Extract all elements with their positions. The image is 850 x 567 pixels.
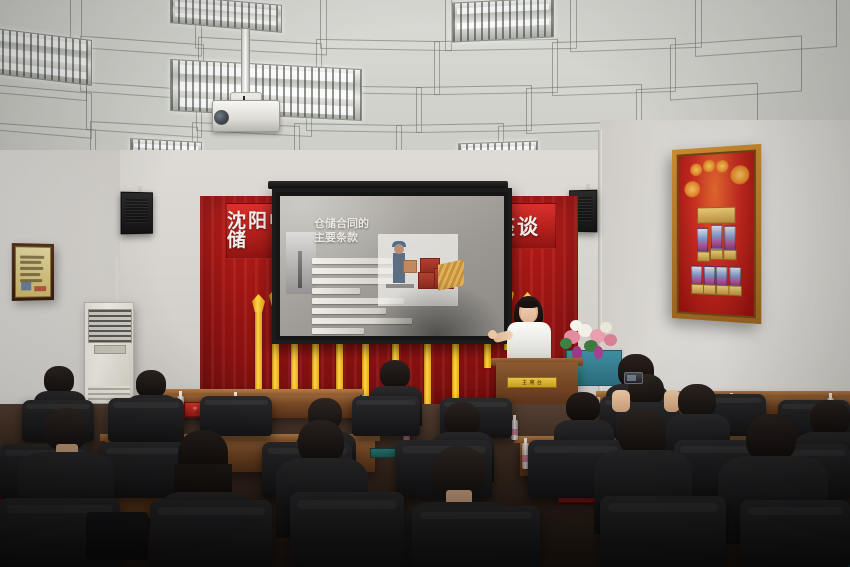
spear-decoration	[452, 340, 459, 402]
floor-standing-ac-unit	[84, 302, 134, 409]
presentation-slide: 仓储合同的 主要条款	[280, 196, 504, 336]
mobile-phone[interactable]	[624, 372, 643, 384]
water-bottle[interactable]	[511, 420, 518, 440]
spear-decoration	[424, 340, 431, 404]
presenter-hand	[488, 330, 497, 339]
female-presenter	[497, 300, 561, 364]
podium-nameplate-text: 主 席 台	[522, 379, 542, 386]
flower-bouquet	[560, 316, 618, 356]
folder	[370, 448, 396, 458]
podium-nameplate: 主 席 台	[507, 377, 557, 388]
chair[interactable]	[740, 500, 850, 567]
chair[interactable]	[108, 398, 184, 442]
handbag	[86, 512, 148, 560]
ac-pipe	[115, 258, 119, 306]
projection-screen: 仓储合同的 主要条款	[272, 188, 512, 344]
chair[interactable]	[600, 496, 726, 567]
chair[interactable]	[352, 396, 420, 436]
desk-surface	[156, 389, 364, 395]
honor-display-frame	[672, 144, 761, 324]
ac-control-panel[interactable]	[94, 345, 127, 354]
ceiling-light-panel	[452, 0, 554, 43]
chair[interactable]	[150, 500, 272, 567]
projector-lens	[214, 110, 229, 125]
ac-grill	[88, 309, 131, 343]
meeting-room-scene: 沈阳中储 座谈 仓储合同的 主要条款	[0, 0, 850, 567]
certificate-frame	[12, 243, 54, 301]
projector-mount-rod	[241, 28, 250, 98]
chair[interactable]	[290, 492, 404, 567]
chair[interactable]	[412, 506, 540, 567]
wall-speaker-left	[121, 192, 153, 235]
